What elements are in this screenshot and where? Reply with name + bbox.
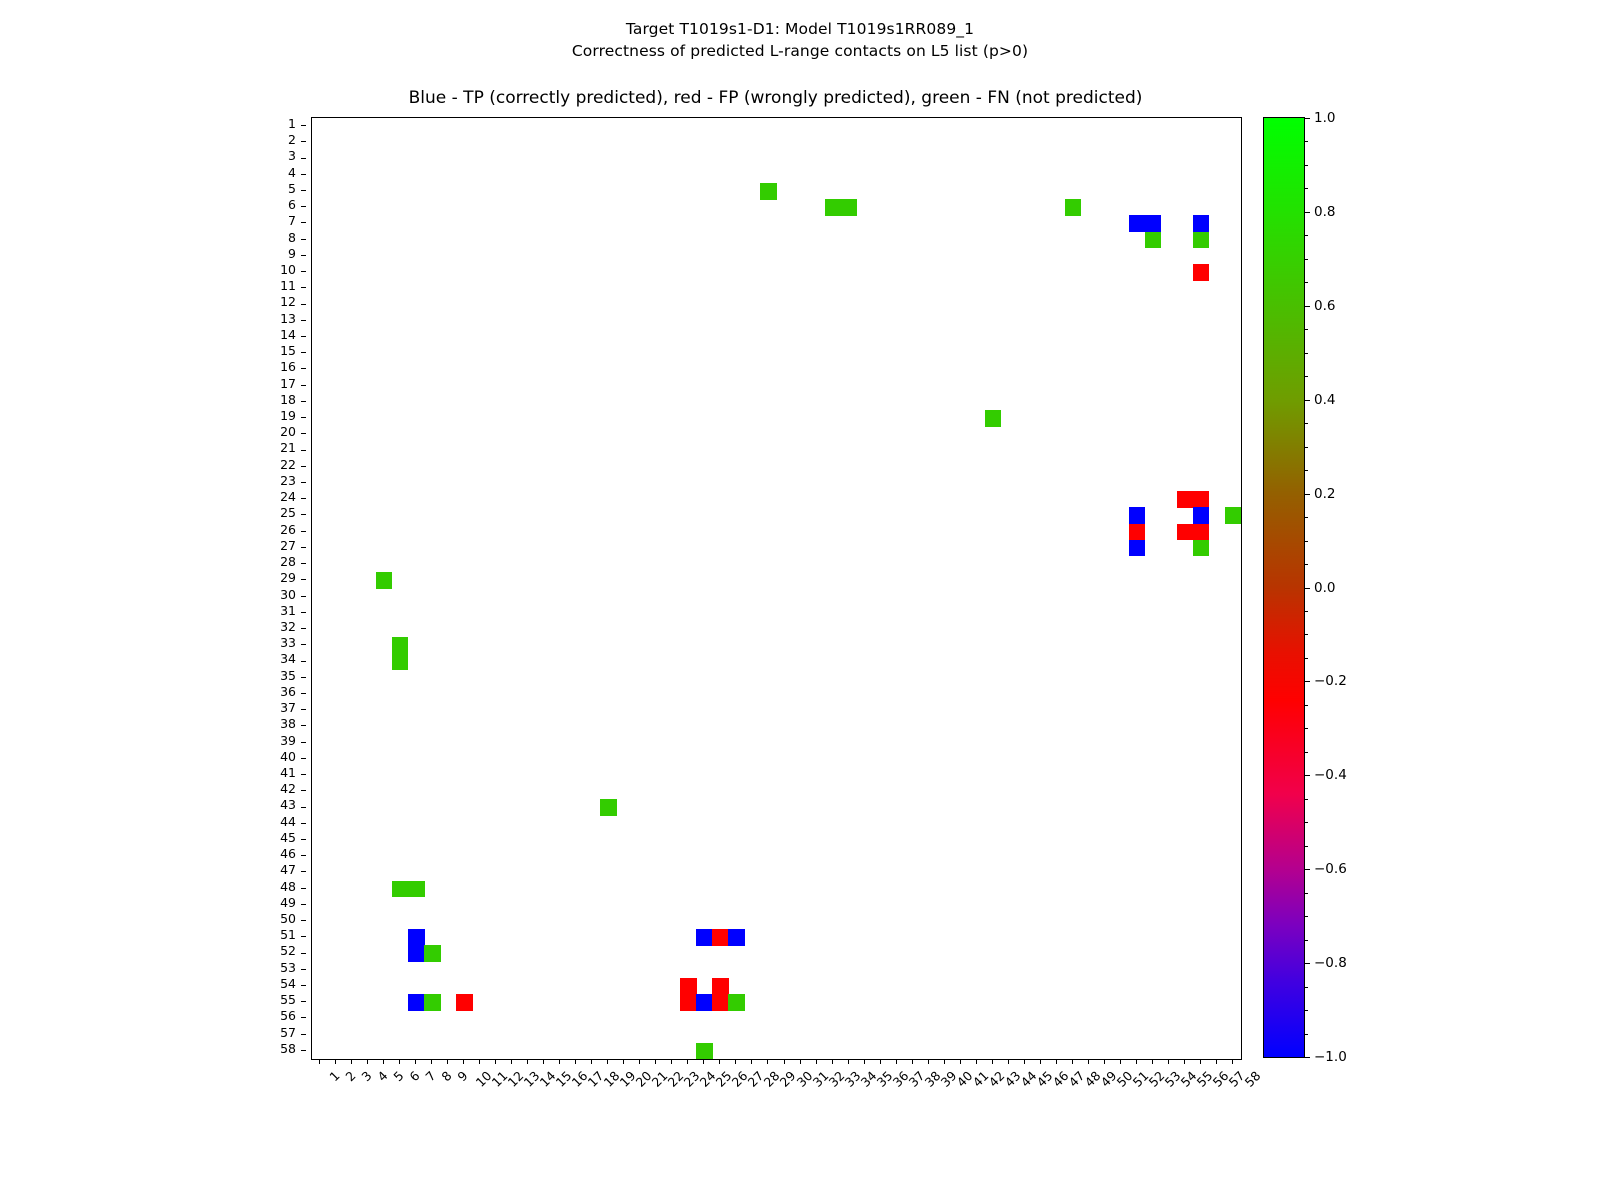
y-tick-label-13: 13	[280, 311, 296, 327]
contact-cell-fp-26-51	[712, 929, 728, 946]
contact-cell-fn-7-48	[408, 881, 424, 898]
y-tick-label-48: 48	[280, 879, 296, 895]
y-tick-mark-32	[301, 628, 306, 629]
y-tick-mark-5	[301, 190, 306, 191]
y-tick-mark-8	[301, 239, 306, 240]
y-tick-label-37: 37	[280, 700, 296, 716]
y-tick-mark-47	[301, 871, 306, 872]
y-tick-label-6: 6	[288, 197, 296, 213]
y-tick-label-5: 5	[288, 181, 296, 197]
y-tick-label-54: 54	[280, 976, 296, 992]
y-tick-mark-15	[301, 352, 306, 353]
x-tick-mark-27	[735, 1059, 736, 1064]
y-tick-mark-21	[301, 450, 306, 451]
contact-cell-tp-25-55	[696, 994, 712, 1011]
y-tick-mark-36	[301, 693, 306, 694]
y-tick-mark-56	[301, 1017, 306, 1018]
contact-cell-fp-55-26	[1177, 524, 1193, 541]
contact-cell-tp-7-51	[408, 929, 424, 946]
y-tick-mark-10	[301, 271, 306, 272]
y-tick-label-56: 56	[280, 1008, 296, 1024]
x-tick-mark-57	[1216, 1059, 1217, 1064]
y-tick-mark-58	[301, 1050, 306, 1051]
x-tick-mark-47	[1056, 1059, 1057, 1064]
colorbar-tick-label-1: 0.8	[1314, 204, 1335, 220]
y-tick-label-26: 26	[280, 522, 296, 538]
y-tick-label-53: 53	[280, 960, 296, 976]
x-tick-mark-29	[767, 1059, 768, 1064]
y-tick-mark-44	[301, 823, 306, 824]
contact-cell-tp-7-55	[408, 994, 424, 1011]
y-tick-mark-17	[301, 385, 306, 386]
x-tick-mark-42	[976, 1059, 977, 1064]
colorbar-minor-tick	[1304, 541, 1308, 542]
contact-cell-tp-53-7	[1145, 215, 1161, 232]
y-tick-mark-40	[301, 758, 306, 759]
y-tick-label-36: 36	[280, 684, 296, 700]
y-tick-label-31: 31	[280, 603, 296, 619]
contact-cell-fp-56-26	[1193, 524, 1209, 541]
contact-cell-tp-52-7	[1129, 215, 1145, 232]
contact-cell-tp-52-27	[1129, 540, 1145, 557]
x-tick-mark-55	[1184, 1059, 1185, 1064]
colorbar-minor-tick	[1304, 517, 1308, 518]
y-tick-mark-13	[301, 320, 306, 321]
y-tick-mark-57	[301, 1034, 306, 1035]
figure-title-block: Target T1019s1-D1: Model T1019s1RR089_1 …	[0, 18, 1600, 62]
y-tick-label-50: 50	[280, 911, 296, 927]
x-tick-mark-13	[511, 1059, 512, 1064]
x-tick-mark-17	[575, 1059, 576, 1064]
y-tick-label-30: 30	[280, 587, 296, 603]
colorbar-tick-label-10: −1.0	[1314, 1049, 1347, 1065]
y-tick-label-3: 3	[288, 148, 296, 164]
colorbar-minor-tick	[1304, 705, 1308, 706]
colorbar-tick-mark-3	[1304, 400, 1310, 401]
x-tick-mark-1	[319, 1059, 320, 1064]
y-tick-mark-49	[301, 904, 306, 905]
x-tick-mark-6	[399, 1059, 400, 1064]
y-tick-mark-35	[301, 677, 306, 678]
x-tick-mark-25	[703, 1059, 704, 1064]
y-tick-label-20: 20	[280, 424, 296, 440]
y-tick-mark-20	[301, 433, 306, 434]
y-tick-label-40: 40	[280, 749, 296, 765]
y-tick-mark-22	[301, 466, 306, 467]
x-tick-mark-26	[719, 1059, 720, 1064]
colorbar-minor-tick	[1304, 728, 1308, 729]
contact-cell-fp-26-54	[712, 978, 728, 995]
contact-cell-layer	[312, 118, 1241, 1059]
colorbar-minor-tick	[1304, 188, 1308, 189]
y-tick-label-24: 24	[280, 489, 296, 505]
colorbar-minor-tick	[1304, 752, 1308, 753]
y-tick-label-4: 4	[288, 165, 296, 181]
x-tick-mark-28	[751, 1059, 752, 1064]
colorbar-minor-tick	[1304, 658, 1308, 659]
colorbar-tick-label-6: −0.2	[1314, 673, 1347, 689]
y-tick-label-9: 9	[288, 246, 296, 262]
colorbar-tick-mark-6	[1304, 681, 1310, 682]
y-tick-label-35: 35	[280, 668, 296, 684]
y-tick-mark-48	[301, 888, 306, 889]
colorbar-minor-tick	[1304, 141, 1308, 142]
contact-cell-fn-27-55	[728, 994, 744, 1011]
y-tick-mark-42	[301, 790, 306, 791]
y-tick-label-27: 27	[280, 538, 296, 554]
x-tick-mark-15	[543, 1059, 544, 1064]
contact-cell-fp-52-26	[1129, 524, 1145, 541]
contact-cell-fn-58-25	[1225, 507, 1241, 524]
y-tick-label-12: 12	[280, 294, 296, 310]
contact-cell-tp-56-7	[1193, 215, 1209, 232]
y-tick-label-25: 25	[280, 505, 296, 521]
colorbar-minor-tick	[1304, 987, 1308, 988]
y-tick-label-10: 10	[280, 262, 296, 278]
x-tick-mark-58	[1232, 1059, 1233, 1064]
colorbar-minor-tick	[1304, 564, 1308, 565]
contact-cell-fp-56-24	[1193, 491, 1209, 508]
colorbar-minor-tick	[1304, 470, 1308, 471]
contact-cell-fn-56-8	[1193, 232, 1209, 249]
colorbar-tick-label-0: 1.0	[1314, 110, 1335, 126]
colorbar-minor-tick	[1304, 376, 1308, 377]
x-tick-mark-45	[1024, 1059, 1025, 1064]
colorbar-minor-tick	[1304, 893, 1308, 894]
y-tick-mark-2	[301, 141, 306, 142]
y-tick-label-2: 2	[288, 132, 296, 148]
x-tick-mark-52	[1136, 1059, 1137, 1064]
y-tick-label-57: 57	[280, 1025, 296, 1041]
x-tick-mark-9	[447, 1059, 448, 1064]
colorbar-minor-tick	[1304, 447, 1308, 448]
contact-cell-fn-6-48	[392, 881, 408, 898]
y-tick-mark-9	[301, 255, 306, 256]
x-tick-mark-37	[896, 1059, 897, 1064]
colorbar-minor-tick	[1304, 282, 1308, 283]
y-tick-mark-30	[301, 596, 306, 597]
colorbar-minor-tick	[1304, 940, 1308, 941]
colorbar-minor-tick	[1304, 822, 1308, 823]
y-tick-label-43: 43	[280, 797, 296, 813]
y-tick-label-39: 39	[280, 733, 296, 749]
x-tick-mark-30	[784, 1059, 785, 1064]
x-tick-mark-54	[1168, 1059, 1169, 1064]
contact-cell-fn-33-6	[825, 199, 841, 216]
x-tick-mark-22	[655, 1059, 656, 1064]
contact-cell-tp-52-25	[1129, 507, 1145, 524]
y-tick-mark-4	[301, 174, 306, 175]
colorbar-tick-mark-8	[1304, 869, 1310, 870]
contact-cell-fn-56-27	[1193, 540, 1209, 557]
y-tick-mark-1	[301, 125, 306, 126]
contact-map-plot[interactable]	[311, 117, 1242, 1060]
y-tick-mark-6	[301, 206, 306, 207]
colorbar-tick-mark-0	[1304, 118, 1310, 119]
contact-cell-fp-24-54	[680, 978, 696, 995]
y-tick-mark-27	[301, 547, 306, 548]
x-tick-label-2: 2	[342, 1068, 358, 1084]
x-tick-mark-4	[367, 1059, 368, 1064]
x-tick-mark-51	[1120, 1059, 1121, 1064]
x-tick-mark-49	[1088, 1059, 1089, 1064]
x-axis: 1234567891011121314151617181920212223242…	[311, 1059, 1240, 1159]
x-tick-mark-11	[479, 1059, 480, 1064]
y-tick-mark-23	[301, 482, 306, 483]
y-tick-label-7: 7	[288, 213, 296, 229]
y-tick-label-52: 52	[280, 943, 296, 959]
y-tick-mark-55	[301, 1001, 306, 1002]
y-tick-label-47: 47	[280, 862, 296, 878]
y-tick-mark-29	[301, 579, 306, 580]
colorbar-tick-mark-2	[1304, 306, 1310, 307]
contact-cell-fn-25-58	[696, 1043, 712, 1060]
x-tick-label-6: 6	[406, 1068, 422, 1084]
y-tick-mark-28	[301, 563, 306, 564]
y-tick-label-18: 18	[280, 392, 296, 408]
y-tick-mark-53	[301, 969, 306, 970]
y-tick-mark-37	[301, 709, 306, 710]
y-tick-mark-52	[301, 953, 306, 954]
x-tick-label-8: 8	[438, 1068, 454, 1084]
colorbar-minor-tick	[1304, 329, 1308, 330]
x-tick-mark-56	[1200, 1059, 1201, 1064]
contact-cell-fn-6-34	[392, 653, 408, 670]
x-tick-label-4: 4	[374, 1068, 390, 1084]
y-tick-mark-38	[301, 725, 306, 726]
y-tick-label-21: 21	[280, 440, 296, 456]
axes-legend-title: Blue - TP (correctly predicted), red - F…	[311, 88, 1240, 108]
colorbar-tick-label-7: −0.4	[1314, 767, 1347, 783]
x-tick-mark-24	[687, 1059, 688, 1064]
x-tick-label-5: 5	[390, 1068, 406, 1084]
y-tick-label-32: 32	[280, 619, 296, 635]
colorbar-tick-label-8: −0.6	[1314, 861, 1347, 877]
x-tick-mark-18	[591, 1059, 592, 1064]
colorbar-tick-label-5: 0.0	[1314, 580, 1335, 596]
contact-cell-fn-6-33	[392, 637, 408, 654]
x-tick-label-3: 3	[358, 1068, 374, 1084]
contact-cell-fn-8-52	[424, 945, 440, 962]
contact-cell-fp-26-55	[712, 994, 728, 1011]
x-tick-label-9: 9	[454, 1068, 470, 1084]
y-tick-label-14: 14	[280, 327, 296, 343]
y-tick-label-29: 29	[280, 570, 296, 586]
x-tick-mark-21	[639, 1059, 640, 1064]
y-tick-label-33: 33	[280, 635, 296, 651]
y-tick-mark-45	[301, 839, 306, 840]
colorbar-tick-mark-10	[1304, 1057, 1310, 1058]
x-tick-mark-46	[1040, 1059, 1041, 1064]
y-tick-mark-11	[301, 287, 306, 288]
colorbar-tick-mark-1	[1304, 212, 1310, 213]
x-tick-mark-12	[495, 1059, 496, 1064]
y-tick-label-15: 15	[280, 343, 296, 359]
y-tick-label-42: 42	[280, 781, 296, 797]
y-tick-label-23: 23	[280, 473, 296, 489]
y-tick-mark-33	[301, 644, 306, 645]
figure-title-line-1: Target T1019s1-D1: Model T1019s1RR089_1	[0, 18, 1600, 40]
x-tick-mark-48	[1072, 1059, 1073, 1064]
colorbar-minor-tick	[1304, 846, 1308, 847]
y-tick-label-46: 46	[280, 846, 296, 862]
x-tick-mark-43	[992, 1059, 993, 1064]
y-tick-mark-43	[301, 807, 306, 808]
y-tick-label-44: 44	[280, 814, 296, 830]
contact-cell-fn-29-5	[760, 183, 776, 200]
y-tick-label-41: 41	[280, 765, 296, 781]
colorbar-minor-tick	[1304, 916, 1308, 917]
colorbar-tick-label-3: 0.4	[1314, 392, 1335, 408]
contact-cell-fn-48-6	[1065, 199, 1081, 216]
y-tick-label-28: 28	[280, 554, 296, 570]
x-tick-mark-31	[800, 1059, 801, 1064]
colorbar-gradient	[1263, 117, 1305, 1058]
contact-cell-fn-8-55	[424, 994, 440, 1011]
y-tick-mark-7	[301, 222, 306, 223]
y-tick-mark-39	[301, 742, 306, 743]
x-tick-mark-14	[527, 1059, 528, 1064]
contact-cell-fp-24-55	[680, 994, 696, 1011]
y-tick-mark-51	[301, 936, 306, 937]
x-tick-mark-32	[816, 1059, 817, 1064]
x-tick-label-1: 1	[326, 1068, 342, 1084]
colorbar-minor-tick	[1304, 235, 1308, 236]
y-tick-mark-3	[301, 158, 306, 159]
contact-cell-fn-34-6	[841, 199, 857, 216]
colorbar-minor-tick	[1304, 634, 1308, 635]
y-tick-mark-41	[301, 774, 306, 775]
figure-title-line-2: Correctness of predicted L-range contact…	[0, 40, 1600, 62]
y-tick-label-55: 55	[280, 992, 296, 1008]
contact-cell-tp-7-52	[408, 945, 424, 962]
y-tick-mark-34	[301, 661, 306, 662]
x-tick-mark-7	[415, 1059, 416, 1064]
colorbar-tick-label-4: 0.2	[1314, 486, 1335, 502]
colorbar-tick-label-2: 0.6	[1314, 298, 1335, 314]
x-tick-mark-39	[928, 1059, 929, 1064]
x-tick-mark-16	[559, 1059, 560, 1064]
contact-cell-fp-56-10	[1193, 264, 1209, 281]
contact-cell-tp-27-51	[728, 929, 744, 946]
x-tick-mark-10	[463, 1059, 464, 1064]
y-tick-mark-18	[301, 401, 306, 402]
y-tick-label-49: 49	[280, 895, 296, 911]
contact-cell-fn-19-43	[600, 799, 616, 816]
colorbar-tick-mark-9	[1304, 963, 1310, 964]
colorbar-tick-mark-7	[1304, 775, 1310, 776]
colorbar-minor-tick	[1304, 611, 1308, 612]
y-tick-label-11: 11	[280, 278, 296, 294]
contact-cell-fn-53-8	[1145, 232, 1161, 249]
x-tick-mark-34	[848, 1059, 849, 1064]
y-tick-label-34: 34	[280, 651, 296, 667]
contact-cell-tp-56-25	[1193, 507, 1209, 524]
colorbar-tick-label-9: −0.8	[1314, 955, 1347, 971]
x-tick-mark-53	[1152, 1059, 1153, 1064]
y-tick-label-16: 16	[280, 359, 296, 375]
y-tick-mark-14	[301, 336, 306, 337]
y-tick-mark-54	[301, 985, 306, 986]
y-tick-label-22: 22	[280, 457, 296, 473]
y-tick-mark-16	[301, 368, 306, 369]
x-tick-mark-35	[864, 1059, 865, 1064]
colorbar-minor-tick	[1304, 1010, 1308, 1011]
x-tick-mark-19	[607, 1059, 608, 1064]
x-tick-mark-5	[383, 1059, 384, 1064]
y-tick-label-45: 45	[280, 830, 296, 846]
colorbar-minor-tick	[1304, 423, 1308, 424]
y-tick-mark-25	[301, 514, 306, 515]
x-tick-mark-2	[335, 1059, 336, 1064]
y-tick-label-17: 17	[280, 376, 296, 392]
x-tick-mark-36	[880, 1059, 881, 1064]
contact-cell-fn-43-19	[985, 410, 1001, 427]
colorbar-minor-tick	[1304, 259, 1308, 260]
y-tick-mark-12	[301, 304, 306, 305]
x-tick-mark-23	[671, 1059, 672, 1064]
contact-cell-fp-55-24	[1177, 491, 1193, 508]
x-tick-mark-3	[351, 1059, 352, 1064]
x-tick-label-7: 7	[422, 1068, 438, 1084]
colorbar-tick-mark-4	[1304, 494, 1310, 495]
contact-cell-fn-5-29	[376, 572, 392, 589]
x-tick-mark-50	[1104, 1059, 1105, 1064]
contact-cell-tp-25-51	[696, 929, 712, 946]
x-tick-mark-44	[1008, 1059, 1009, 1064]
x-tick-mark-38	[912, 1059, 913, 1064]
colorbar[interactable]: 1.00.80.60.40.20.0−0.2−0.4−0.6−0.8−1.0	[1263, 117, 1305, 1058]
y-tick-label-1: 1	[288, 116, 296, 132]
y-tick-mark-19	[301, 417, 306, 418]
x-tick-mark-41	[960, 1059, 961, 1064]
x-tick-mark-20	[623, 1059, 624, 1064]
y-tick-label-8: 8	[288, 230, 296, 246]
y-tick-mark-26	[301, 531, 306, 532]
colorbar-minor-tick	[1304, 799, 1308, 800]
y-tick-mark-50	[301, 920, 306, 921]
colorbar-tick-mark-5	[1304, 588, 1310, 589]
y-tick-label-51: 51	[280, 927, 296, 943]
y-tick-mark-46	[301, 855, 306, 856]
x-tick-label-58: 58	[1242, 1068, 1264, 1090]
y-tick-label-19: 19	[280, 408, 296, 424]
y-tick-label-58: 58	[280, 1041, 296, 1057]
colorbar-minor-tick	[1304, 165, 1308, 166]
colorbar-minor-tick	[1304, 353, 1308, 354]
y-tick-label-38: 38	[280, 716, 296, 732]
x-tick-mark-8	[431, 1059, 432, 1064]
x-tick-mark-40	[944, 1059, 945, 1064]
colorbar-minor-tick	[1304, 1034, 1308, 1035]
y-tick-mark-24	[301, 498, 306, 499]
x-tick-mark-33	[832, 1059, 833, 1064]
y-tick-mark-31	[301, 612, 306, 613]
y-axis: 1234567891011121314151617181920212223242…	[240, 117, 306, 1058]
contact-cell-fp-10-55	[456, 994, 472, 1011]
